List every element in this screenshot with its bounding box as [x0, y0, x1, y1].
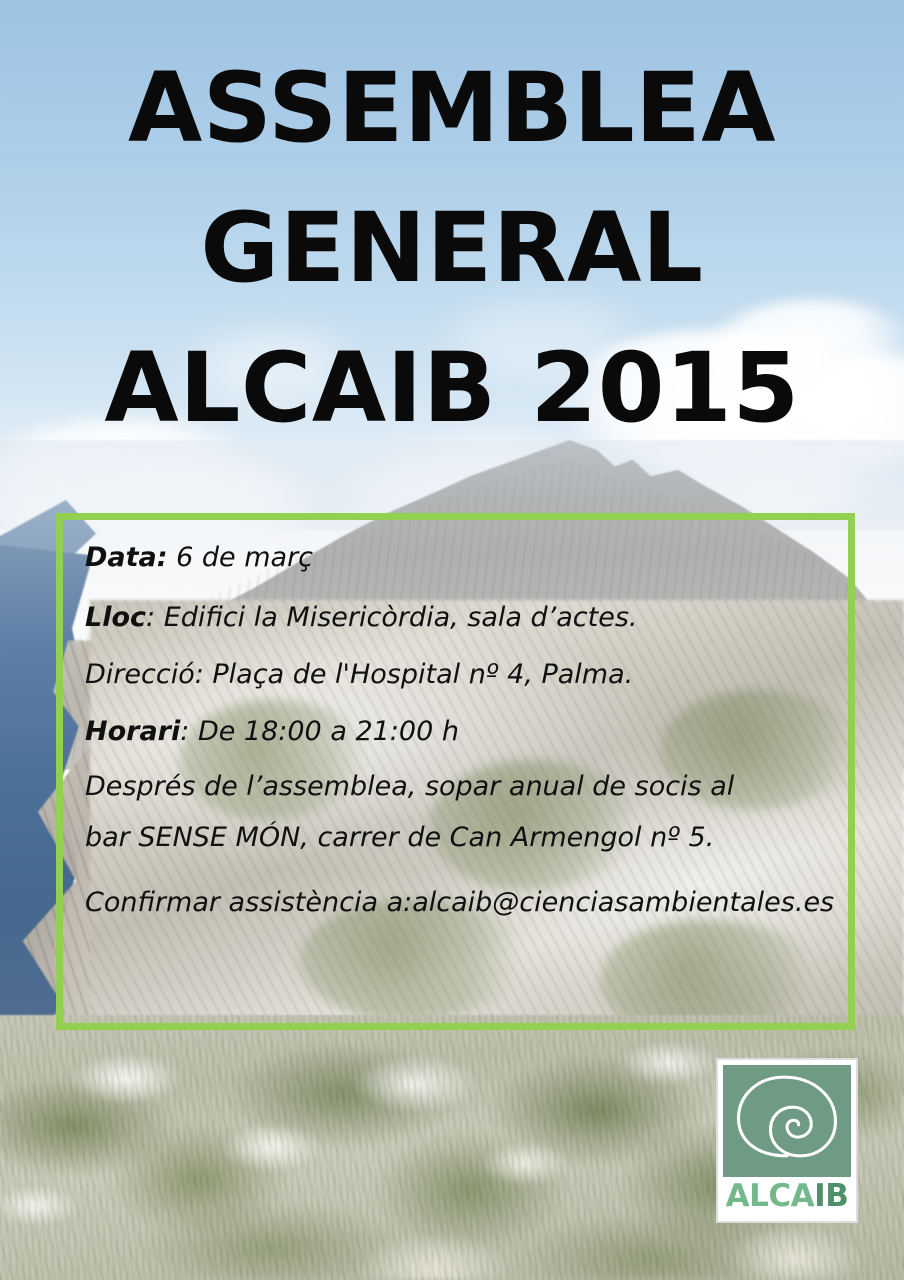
detail-row-dinner-line-1: Després de l’assemblea, sopar anual de s… [85, 773, 826, 800]
detail-row-dinner-line-2: bar SENSE MÓN, carrer de Can Armengol nº… [85, 824, 826, 851]
event-details-box: Data: 6 de març Lloc: Edifici la Miseric… [56, 513, 855, 1030]
detail-value-venue: : Edifici la Misericòrdia, sala d’actes. [146, 602, 637, 633]
headline-line-2: GENERAL [0, 200, 904, 296]
detail-label-schedule: Horari [85, 716, 180, 747]
detail-row-date: Data: 6 de març [85, 544, 826, 571]
detail-value-date: 6 de març [168, 542, 313, 573]
detail-row-venue: Lloc: Edifici la Misericòrdia, sala d’ac… [85, 604, 826, 631]
detail-label-date: Data: [85, 542, 168, 573]
wordmark-ib: IB [814, 1181, 848, 1212]
poster-canvas: ASSEMBLEA GENERAL ALCAIB 2015 Data: 6 de… [0, 0, 904, 1280]
wordmark-alca: ALCA [726, 1181, 815, 1212]
headline-line-1: ASSEMBLEA [0, 60, 904, 156]
detail-row-schedule: Horari: De 18:00 a 21:00 h [85, 718, 826, 745]
headline-line-3: ALCAIB 2015 [0, 340, 904, 436]
detail-label-venue: Lloc [85, 602, 146, 633]
snail-spiral-icon [723, 1065, 851, 1177]
poster-headline: ASSEMBLEA GENERAL ALCAIB 2015 [0, 0, 904, 436]
detail-value-schedule: : De 18:00 a 21:00 h [180, 716, 459, 747]
detail-row-address: Direcció: Plaça de l'Hospital nº 4, Palm… [85, 661, 826, 688]
alcaib-logo: ALCAIB [716, 1058, 858, 1223]
alcaib-wordmark: ALCAIB [723, 1177, 851, 1216]
detail-row-rsvp: Confirmar assistència a:alcaib@cienciasa… [85, 889, 826, 916]
